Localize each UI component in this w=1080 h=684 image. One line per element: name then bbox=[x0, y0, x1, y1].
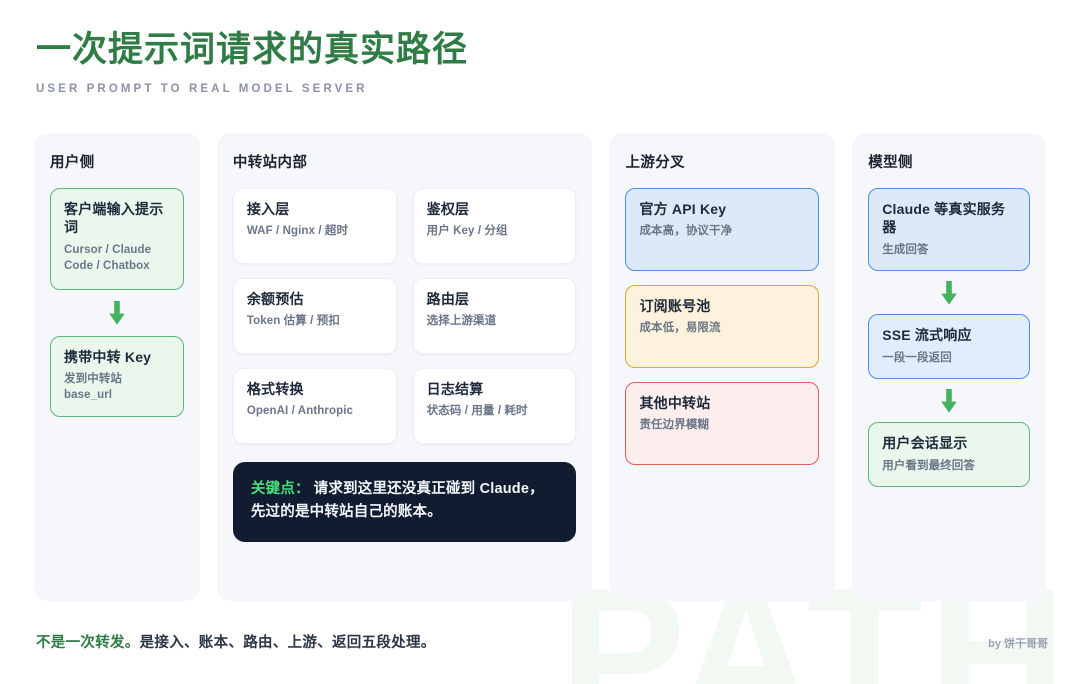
card-subscription-pool[interactable]: 订阅账号池 成本低，易限流 bbox=[625, 285, 819, 368]
card-subtitle: 状态码 / 用量 / 耗时 bbox=[427, 403, 564, 419]
card-title: 订阅账号池 bbox=[639, 297, 806, 315]
card-title: 用户会话显示 bbox=[882, 434, 1017, 452]
card-subtitle: 用户看到最终回答 bbox=[882, 458, 1017, 474]
panel-upstream-fork: 上游分叉 官方 API Key 成本高，协议干净 订阅账号池 成本低，易限流 其… bbox=[609, 133, 835, 601]
arrow-down-icon bbox=[868, 271, 1030, 314]
card-grid-relay-internal: 接入层 WAF / Nginx / 超时 鉴权层 用户 Key / 分组 余额预… bbox=[233, 188, 577, 444]
card-title: 其他中转站 bbox=[639, 394, 806, 412]
card-subtitle: 生成回答 bbox=[882, 242, 1017, 258]
card-auth-layer[interactable]: 鉴权层 用户 Key / 分组 bbox=[413, 188, 577, 264]
card-subtitle: 发到中转站 base_url bbox=[64, 371, 171, 404]
page-title: 一次提示词请求的真实路径 bbox=[36, 30, 468, 70]
card-title: 鉴权层 bbox=[427, 200, 564, 218]
key-point-callout: 关键点：请求到这里还没真正碰到 Claude，先过的是中转站自己的账本。 bbox=[233, 462, 577, 542]
card-format-conversion[interactable]: 格式转换 OpenAI / Anthropic bbox=[233, 368, 397, 444]
panel-title-user-side: 用户侧 bbox=[50, 151, 184, 172]
panel-title-model-side: 模型侧 bbox=[868, 151, 1030, 172]
panel-model-side: 模型侧 Claude 等真实服务器 生成回答 SSE 流式响应 一段一段返回 bbox=[852, 133, 1046, 601]
card-title: 接入层 bbox=[247, 200, 384, 218]
card-relay-key[interactable]: 携带中转 Key 发到中转站 base_url bbox=[50, 336, 184, 417]
footer-summary-rest: 是接入、账本、路由、上游、返回五段处理。 bbox=[140, 635, 436, 651]
card-subtitle: 一段一段返回 bbox=[882, 350, 1017, 366]
card-stack-upstream-fork: 官方 API Key 成本高，协议干净 订阅账号池 成本低，易限流 其他中转站 … bbox=[625, 188, 819, 465]
footer-credit: by 饼干哥哥 bbox=[988, 635, 1048, 651]
card-subtitle: Cursor / Claude Code / Chatbox bbox=[64, 242, 171, 275]
card-other-relays[interactable]: 其他中转站 责任边界模糊 bbox=[625, 382, 819, 465]
card-client-prompt[interactable]: 客户端输入提示词 Cursor / Claude Code / Chatbox bbox=[50, 188, 184, 290]
card-title: 日志结算 bbox=[427, 380, 564, 398]
card-title: Claude 等真实服务器 bbox=[882, 200, 1017, 237]
card-ingress-layer[interactable]: 接入层 WAF / Nginx / 超时 bbox=[233, 188, 397, 264]
footer-summary: 不是一次转发。是接入、账本、路由、上游、返回五段处理。 bbox=[36, 631, 436, 652]
card-stack-model-side: Claude 等真实服务器 生成回答 SSE 流式响应 一段一段返回 bbox=[868, 188, 1030, 487]
footer: 不是一次转发。是接入、账本、路由、上游、返回五段处理。 by 饼干哥哥 bbox=[36, 631, 1048, 652]
card-title: 官方 API Key bbox=[639, 200, 806, 218]
arrow-down-icon bbox=[50, 290, 184, 336]
card-title: 路由层 bbox=[427, 290, 564, 308]
footer-summary-strong: 不是一次转发。 bbox=[36, 635, 140, 651]
columns-container: 用户侧 客户端输入提示词 Cursor / Claude Code / Chat… bbox=[34, 133, 1046, 601]
page-subtitle: USER PROMPT TO REAL MODEL SERVER bbox=[36, 83, 468, 95]
panel-title-upstream-fork: 上游分叉 bbox=[625, 151, 819, 172]
card-title: 客户端输入提示词 bbox=[64, 200, 171, 237]
card-title: 格式转换 bbox=[247, 380, 384, 398]
card-user-session-display[interactable]: 用户会话显示 用户看到最终回答 bbox=[868, 422, 1030, 487]
card-sse-stream[interactable]: SSE 流式响应 一段一段返回 bbox=[868, 314, 1030, 379]
card-title: 余额预估 bbox=[247, 290, 384, 308]
card-subtitle: 选择上游渠道 bbox=[427, 313, 564, 329]
card-subtitle: OpenAI / Anthropic bbox=[247, 403, 384, 419]
arrow-down-icon bbox=[868, 379, 1030, 422]
callout-label: 关键点： bbox=[251, 481, 310, 497]
panel-relay-internal: 中转站内部 接入层 WAF / Nginx / 超时 鉴权层 用户 Key / … bbox=[217, 133, 593, 601]
card-official-api-key[interactable]: 官方 API Key 成本高，协议干净 bbox=[625, 188, 819, 271]
header: 一次提示词请求的真实路径 USER PROMPT TO REAL MODEL S… bbox=[36, 30, 468, 95]
panel-user-side: 用户侧 客户端输入提示词 Cursor / Claude Code / Chat… bbox=[34, 133, 200, 601]
card-title: 携带中转 Key bbox=[64, 348, 171, 366]
card-subtitle: 成本高，协议干净 bbox=[639, 223, 806, 239]
card-title: SSE 流式响应 bbox=[882, 326, 1017, 344]
card-balance-estimate[interactable]: 余额预估 Token 估算 / 预扣 bbox=[233, 278, 397, 354]
card-subtitle: 用户 Key / 分组 bbox=[427, 223, 564, 239]
callout-text: 关键点：请求到这里还没真正碰到 Claude，先过的是中转站自己的账本。 bbox=[251, 478, 559, 525]
card-subtitle: 责任边界模糊 bbox=[639, 417, 806, 433]
card-routing-layer[interactable]: 路由层 选择上游渠道 bbox=[413, 278, 577, 354]
infographic-root: PATH 一次提示词请求的真实路径 USER PROMPT TO REAL MO… bbox=[0, 0, 1080, 684]
card-log-settlement[interactable]: 日志结算 状态码 / 用量 / 耗时 bbox=[413, 368, 577, 444]
card-subtitle: 成本低，易限流 bbox=[639, 320, 806, 336]
card-subtitle: Token 估算 / 预扣 bbox=[247, 313, 384, 329]
card-stack-user-side: 客户端输入提示词 Cursor / Claude Code / Chatbox … bbox=[50, 188, 184, 417]
card-claude-server[interactable]: Claude 等真实服务器 生成回答 bbox=[868, 188, 1030, 271]
panel-title-relay-internal: 中转站内部 bbox=[233, 151, 577, 172]
card-subtitle: WAF / Nginx / 超时 bbox=[247, 223, 384, 239]
